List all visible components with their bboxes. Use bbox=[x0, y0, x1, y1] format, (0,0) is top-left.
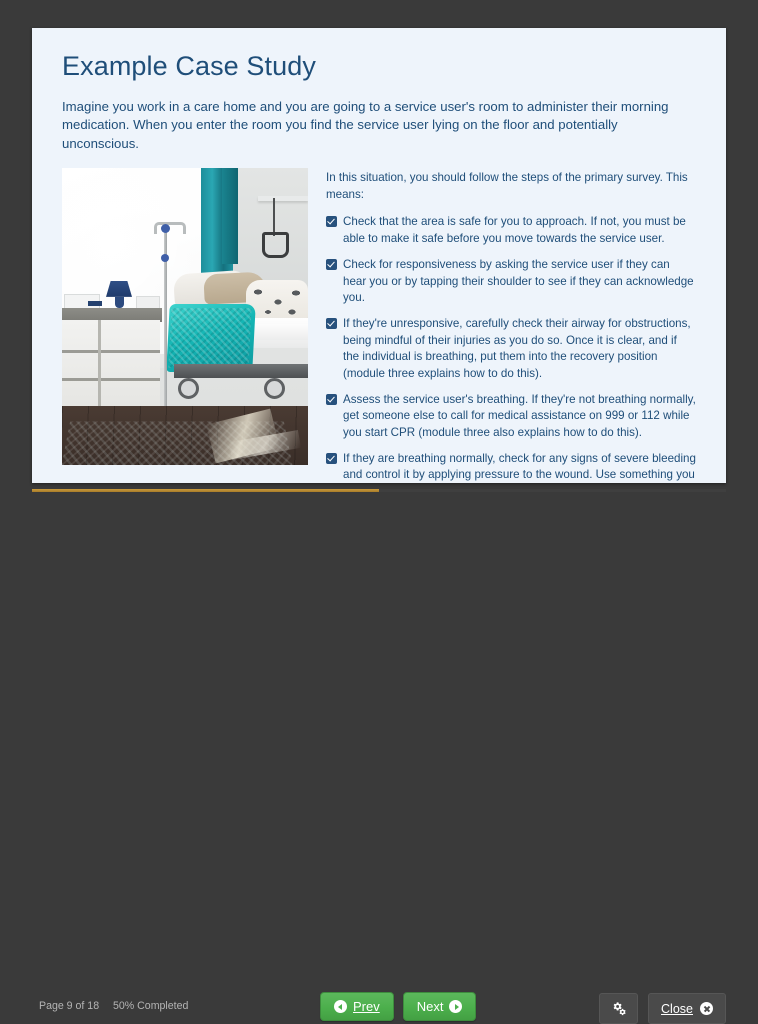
check-icon bbox=[326, 259, 337, 270]
photo-bed-frame bbox=[174, 364, 308, 378]
photo-drawer-line bbox=[62, 350, 160, 353]
next-button-label: Next bbox=[417, 999, 444, 1014]
photo-blanket-texture bbox=[168, 308, 251, 368]
list-item-text: Assess the service user's breathing. If … bbox=[343, 393, 696, 439]
photo-drawer-divider bbox=[98, 320, 101, 406]
page-title: Example Case Study bbox=[62, 52, 696, 82]
circle-x-icon bbox=[700, 1002, 713, 1015]
page-status: Page 9 of 18 50% Completed bbox=[39, 1000, 188, 1012]
progress-track[interactable] bbox=[32, 489, 726, 492]
photo-iv-knob bbox=[161, 254, 169, 262]
photo-drawer-line bbox=[62, 378, 160, 381]
text-column: In this situation, you should follow the… bbox=[326, 168, 696, 483]
gears-icon bbox=[611, 1001, 626, 1016]
lead-paragraph: In this situation, you should follow the… bbox=[326, 170, 696, 204]
photo-curtain-fold bbox=[222, 168, 238, 264]
player-controls: Close bbox=[599, 993, 726, 1024]
image-column bbox=[62, 168, 308, 465]
photo-iv-hook bbox=[154, 222, 186, 234]
next-button[interactable]: Next bbox=[403, 992, 477, 1021]
photo-book bbox=[88, 301, 102, 306]
prev-button[interactable]: Prev bbox=[320, 992, 394, 1021]
list-item-text: If they're unresponsive, carefully check… bbox=[343, 317, 691, 380]
completion-status: 50% Completed bbox=[113, 1000, 188, 1012]
settings-button[interactable] bbox=[599, 993, 638, 1024]
slide-content: Example Case Study Imagine you work in a… bbox=[32, 28, 726, 483]
primary-survey-checklist: Check that the area is safe for you to a… bbox=[326, 214, 696, 483]
player-toolbar: Page 9 of 18 50% Completed Prev Next bbox=[0, 494, 758, 560]
check-icon bbox=[326, 453, 337, 464]
photo-pillow-pattern bbox=[248, 284, 306, 320]
list-item: If they're unresponsive, carefully check… bbox=[326, 316, 696, 383]
list-item: If they are breathing normally, check fo… bbox=[326, 451, 696, 483]
check-icon bbox=[326, 318, 337, 329]
photo-shelf bbox=[258, 196, 308, 201]
photo-iv-pole bbox=[164, 222, 167, 406]
check-icon bbox=[326, 394, 337, 405]
slide-card: Example Case Study Imagine you work in a… bbox=[32, 28, 726, 483]
photo-hoist-cord bbox=[273, 198, 275, 236]
navigation-buttons: Prev Next bbox=[320, 992, 476, 1021]
list-item: Check for responsiveness by asking the s… bbox=[326, 257, 696, 307]
progress-fill bbox=[32, 489, 379, 492]
slide-body-columns: In this situation, you should follow the… bbox=[62, 168, 696, 483]
photo-lamp-base bbox=[115, 297, 124, 308]
list-item: Check that the area is safe for you to a… bbox=[326, 214, 696, 247]
close-button[interactable]: Close bbox=[648, 993, 726, 1024]
photo-bed-handle bbox=[262, 232, 289, 258]
circle-arrow-right-icon bbox=[449, 1000, 462, 1013]
close-button-label: Close bbox=[661, 1002, 693, 1016]
slide-intro-paragraph: Imagine you work in a care home and you … bbox=[62, 98, 696, 154]
photo-bed-wheel bbox=[264, 378, 285, 399]
photo-bed-wheel bbox=[178, 378, 199, 399]
check-icon bbox=[326, 216, 337, 227]
course-player: Example Case Study Imagine you work in a… bbox=[0, 0, 758, 560]
care-home-bedroom-photo bbox=[62, 168, 308, 465]
photo-iv-knob bbox=[161, 224, 170, 233]
list-item: Assess the service user's breathing. If … bbox=[326, 392, 696, 442]
prev-button-label: Prev bbox=[353, 999, 380, 1014]
list-item-text: Check for responsiveness by asking the s… bbox=[343, 258, 694, 304]
photo-dresser bbox=[62, 320, 160, 406]
page-indicator: Page 9 of 18 bbox=[39, 1000, 99, 1012]
list-item-text: Check that the area is safe for you to a… bbox=[343, 215, 686, 245]
circle-arrow-left-icon bbox=[334, 1000, 347, 1013]
list-item-text: If they are breathing normally, check fo… bbox=[343, 452, 696, 483]
